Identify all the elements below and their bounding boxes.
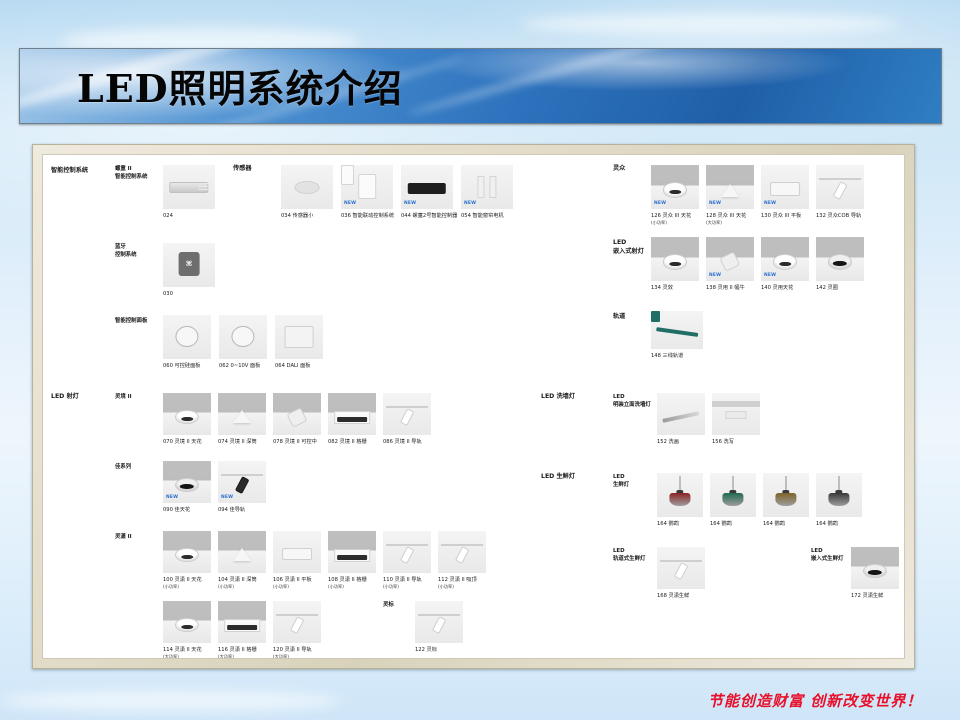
product-code: 164 鹦鹉: [657, 521, 679, 527]
track-rail: [660, 560, 702, 562]
track-spot: [432, 616, 446, 634]
product-caption: 064 DALI 面板: [275, 363, 329, 370]
product-thumbnail: [438, 531, 486, 573]
product-caption: 140 灵用天花: [761, 285, 815, 292]
track-spot: [674, 562, 688, 580]
group-title-jia-series: 佳系列: [115, 463, 131, 471]
group-title-lingbiao: 灵标: [383, 601, 394, 609]
product-image: [712, 393, 760, 435]
section-title-sensors: 传感器: [233, 165, 252, 174]
new-badge: NEW: [166, 495, 178, 500]
track-rail: [418, 614, 460, 616]
title-banner: LED照明系统介绍: [19, 48, 942, 124]
downlight-core: [833, 261, 847, 267]
product-thumbnail: [651, 311, 703, 349]
product-thumbnail: ⌘: [163, 243, 215, 287]
group-title-surface-wall-washer: LED 明装立面洗墙灯: [613, 393, 651, 409]
product-thumbnail: [383, 531, 431, 573]
product-thumbnail: [163, 393, 211, 435]
flat-panel: [282, 548, 312, 561]
product-thumbnail: [218, 601, 266, 643]
flat-panel: [770, 182, 800, 195]
product-thumbnail: [218, 393, 266, 435]
group-title-lingjing-ii: 灵境 II: [115, 393, 132, 401]
track-spot: [400, 408, 414, 426]
product-thumbnail: [328, 531, 376, 573]
product-image: [273, 393, 321, 435]
section-title-led-spotlight: LED 射灯: [51, 393, 79, 402]
wall-washer-body: [662, 411, 699, 422]
product-thumbnail: NEW: [163, 461, 211, 503]
product-image: NEW: [341, 165, 393, 209]
product-caption: 156 洗写: [712, 439, 766, 446]
track-spot: [833, 181, 848, 200]
grille-face: [337, 417, 367, 423]
product-thumbnail: [275, 315, 323, 359]
product-thumbnail: NEW: [341, 165, 393, 209]
cone-reflector: [233, 548, 251, 561]
product-thumbnail: [712, 393, 760, 435]
product-code: 156 洗写: [712, 439, 734, 445]
product-image: NEW: [163, 461, 211, 503]
product-thumbnail: [415, 601, 463, 643]
product-code: 034 传感器小: [281, 213, 313, 219]
product-code: 036 智能联动控制系统: [341, 213, 394, 219]
product-thumbnail: NEW: [461, 165, 513, 209]
product-thumbnail: [328, 393, 376, 435]
product-image: [163, 531, 211, 573]
bluetooth-module: ⌘: [179, 252, 200, 276]
pendant-shade: [828, 493, 849, 506]
product-caption: 164 鹦鹉: [710, 521, 762, 528]
downlight-core: [779, 262, 791, 267]
product-image: [281, 165, 333, 209]
product-image: [328, 531, 376, 573]
product-caption: 110 灵潇 II 导轨(小功率): [383, 577, 437, 591]
product-thumbnail: [273, 531, 321, 573]
product-code: 152 洗画: [657, 439, 679, 445]
product-image: [163, 393, 211, 435]
product-image: [219, 315, 267, 359]
group-title-fresh-recessed: LED 嵌入式生鲜灯: [811, 547, 843, 563]
product-code: 054 智能窗帘电机: [461, 213, 504, 219]
track-spot: [235, 476, 249, 494]
product-image: [218, 531, 266, 573]
product-code: 132 灵众COB 导轨: [816, 213, 861, 219]
product-power-note: (大功率): [706, 220, 722, 225]
product-caption: 106 灵潇 II 平板(小功率): [273, 577, 327, 591]
product-caption: 036 智能联动控制系统: [341, 213, 399, 220]
product-caption: 044 螺童2号智能控制器: [401, 213, 459, 220]
product-caption: 094 佳导轨: [218, 507, 272, 514]
product-caption: 130 灵众 III 平板: [761, 213, 815, 220]
new-badge: NEW: [404, 201, 416, 206]
product-caption: 116 灵潇 II 格栅(大功率): [218, 647, 272, 659]
product-caption: 070 灵境 II 天花: [163, 439, 217, 446]
rail-connector: [651, 311, 660, 322]
group-title-lingxiao-ii-small: 灵潇 II: [115, 533, 132, 541]
product-image: [657, 473, 703, 517]
track-rail: [276, 614, 318, 616]
product-power-note: (小功率): [438, 584, 454, 589]
product-image: [651, 311, 703, 349]
track-rail: [386, 544, 428, 546]
product-image: NEW: [761, 165, 809, 209]
panel-face: [285, 326, 314, 347]
footer-slogan: 节能创造财富 创新改变世界！: [708, 690, 922, 711]
product-thumbnail: [816, 237, 864, 281]
product-code: 116 灵潇 II 格栅: [218, 647, 257, 653]
poster-frame: 智能控制系统螺童 II 智能控制系统024蓝牙 控制系统⌘030智能控制面板06…: [32, 144, 915, 669]
track-spot: [400, 546, 414, 564]
product-code: 104 灵潇 II 深筒: [218, 577, 257, 583]
new-badge: NEW: [344, 201, 356, 206]
section-title-smart-control-system: 智能控制系统: [51, 167, 88, 176]
page-title: LED照明系统介绍: [77, 58, 403, 113]
product-caption: 132 灵众COB 导轨: [816, 213, 870, 220]
product-image: NEW: [706, 237, 754, 281]
product-code: 090 佳天花: [163, 507, 190, 513]
switch-plate-secondary: [341, 165, 354, 185]
product-code: 172 灵潇生鲜: [851, 593, 883, 599]
product-power-note: (小功率): [651, 220, 667, 225]
product-image: [218, 393, 266, 435]
product-image: NEW: [218, 461, 266, 503]
product-code: 100 灵潇 II 天花: [163, 577, 202, 583]
product-code: 168 灵潇生鲜: [657, 593, 689, 599]
product-image: NEW: [651, 165, 699, 209]
product-caption: 112 灵潇 II 吸顶(小功率): [438, 577, 492, 591]
pendant-shade: [775, 493, 796, 506]
product-code: 062 0~10V 面板: [219, 363, 260, 369]
product-code: 024: [163, 213, 173, 219]
product-caption: 104 灵潇 II 深筒(小功率): [218, 577, 272, 591]
product-thumbnail: NEW: [401, 165, 453, 209]
product-power-note: (小功率): [273, 584, 289, 589]
product-caption: 114 灵潇 II 天花(大功率): [163, 647, 217, 659]
product-thumbnail: NEW: [706, 237, 754, 281]
product-caption: 086 灵境 II 导轨: [383, 439, 437, 446]
product-caption: 090 佳天花: [163, 507, 217, 514]
group-title-fresh-pendant: LED 生鲜灯: [613, 473, 629, 489]
product-caption: 100 灵潇 II 天花(小功率): [163, 577, 217, 591]
cone-reflector: [721, 184, 739, 197]
product-thumbnail: [273, 393, 321, 435]
track-spot: [290, 616, 304, 634]
pendant-cord: [680, 476, 681, 491]
new-badge: NEW: [764, 201, 776, 206]
product-image: NEW: [706, 165, 754, 209]
product-caption: 120 灵潇 II 导轨(大功率): [273, 647, 327, 659]
product-thumbnail: [657, 393, 705, 435]
product-power-note: (小功率): [163, 584, 179, 589]
product-thumbnail: [273, 601, 321, 643]
product-code: 114 灵潇 II 天花: [163, 647, 202, 653]
product-image: [710, 473, 756, 517]
product-caption: 152 洗画: [657, 439, 711, 446]
three-wire-rail: [656, 327, 698, 337]
product-caption: 054 智能窗帘电机: [461, 213, 519, 220]
product-thumbnail: [710, 473, 756, 517]
gateway-indicator: [198, 183, 207, 193]
new-badge: NEW: [221, 495, 233, 500]
product-thumbnail: NEW: [218, 461, 266, 503]
bluetooth-icon: ⌘: [186, 260, 193, 268]
product-code: 140 灵用天花: [761, 285, 793, 291]
new-badge: NEW: [654, 201, 666, 206]
product-thumbnail: [816, 473, 862, 517]
product-code: 122 灵标: [415, 647, 437, 653]
product-code: 164 鹦鹉: [763, 521, 785, 527]
product-thumbnail: NEW: [706, 165, 754, 209]
product-code: 060 可控硅面板: [163, 363, 201, 369]
product-caption: 122 灵标: [415, 647, 469, 654]
product-code: 064 DALI 面板: [275, 363, 310, 369]
product-image: [218, 601, 266, 643]
pendant-cord: [786, 476, 787, 491]
product-code: 120 灵潇 II 导轨: [273, 647, 312, 653]
new-badge: NEW: [709, 273, 721, 278]
product-code: 108 灵潇 II 格栅: [328, 577, 367, 583]
product-caption: 142 灵圈: [816, 285, 870, 292]
product-code: 094 佳导轨: [218, 507, 245, 513]
adjustable-head: [719, 252, 740, 273]
product-thumbnail: NEW: [761, 237, 809, 281]
downlight-core: [181, 625, 193, 630]
product-thumbnail: [163, 165, 215, 209]
product-caption: 164 鹦鹉: [763, 521, 815, 528]
pendant-cord: [839, 476, 840, 491]
product-image: [657, 393, 705, 435]
cloud-wisp: [0, 690, 340, 712]
product-caption: 108 灵潇 II 格栅(小功率): [328, 577, 382, 591]
product-thumbnail: [657, 547, 705, 589]
group-title-fresh-track: LED 轨道式生鲜灯: [613, 547, 645, 563]
product-image: [415, 601, 463, 643]
product-caption: 074 灵境 II 深筒: [218, 439, 272, 446]
product-power-note: (大功率): [273, 654, 289, 659]
product-thumbnail: NEW: [651, 165, 699, 209]
product-image: [328, 393, 376, 435]
product-image: NEW: [401, 165, 453, 209]
section-title-led-wall-washer: LED 洗墙灯: [541, 393, 575, 402]
product-power-note: (小功率): [328, 584, 344, 589]
track-spot: [455, 546, 469, 564]
product-caption: 134 灵效: [651, 285, 705, 292]
downlight-core: [669, 262, 681, 267]
product-code: 030: [163, 291, 173, 297]
product-thumbnail: [816, 165, 864, 209]
section-title-lingzhong: 灵众: [613, 165, 625, 174]
product-code: 070 灵境 II 天花: [163, 439, 202, 445]
product-thumbnail: [281, 165, 333, 209]
product-image: [163, 315, 211, 359]
product-image: [651, 237, 699, 281]
product-thumbnail: NEW: [761, 165, 809, 209]
pendant-shade: [722, 493, 743, 506]
curtain-motor-b: [490, 176, 497, 197]
new-badge: NEW: [764, 273, 776, 278]
sensor-body: [295, 181, 320, 194]
product-image: NEW: [461, 165, 513, 209]
adjustable-head: [286, 407, 307, 427]
product-power-note: (小功率): [383, 584, 399, 589]
product-caption: 138 灵用 II 幅牛: [706, 285, 760, 292]
product-thumbnail: [651, 237, 699, 281]
wall-washer-body: [725, 411, 746, 419]
product-code: 142 灵圈: [816, 285, 838, 291]
product-image: [163, 165, 215, 209]
slide-canvas: LED照明系统介绍 智能控制系统螺童 II 智能控制系统024蓝牙 控制系统⌘0…: [0, 0, 960, 720]
product-code: 126 灵众 III 天花: [651, 213, 691, 219]
product-caption: 168 灵潇生鲜: [657, 593, 711, 600]
switch-plate: [358, 174, 376, 199]
product-image: [383, 393, 431, 435]
product-code: 078 灵境 II 可控中: [273, 439, 317, 445]
curtain-motor-a: [477, 176, 484, 197]
group-title-bluetooth-control-system: 蓝牙 控制系统: [115, 243, 137, 259]
cloud-wisp: [520, 14, 900, 34]
product-caption: 062 0~10V 面板: [219, 363, 273, 370]
dimmer-knob: [231, 326, 254, 347]
product-thumbnail: [163, 531, 211, 573]
product-image: [763, 473, 809, 517]
product-thumbnail: [657, 473, 703, 517]
product-thumbnail: [219, 315, 267, 359]
product-image: [816, 473, 862, 517]
product-image: NEW: [761, 237, 809, 281]
product-thumbnail: [163, 315, 211, 359]
cone-reflector: [233, 410, 251, 423]
product-code: 128 灵众 III 天花: [706, 213, 746, 219]
grille-face: [227, 625, 257, 631]
product-code: 164 鹦鹉: [816, 521, 838, 527]
pendant-cord: [733, 476, 734, 491]
product-thumbnail: [763, 473, 809, 517]
product-image: [273, 601, 321, 643]
product-caption: 164 鹦鹉: [816, 521, 868, 528]
downlight-core: [181, 417, 193, 422]
product-image: ⌘: [163, 243, 215, 287]
section-title-led-fresh-light: LED 生鲜灯: [541, 473, 575, 482]
product-caption: 034 传感器小: [281, 213, 339, 220]
product-thumbnail: [383, 393, 431, 435]
product-thumbnail: [218, 531, 266, 573]
controller-body: [408, 183, 446, 194]
product-code: 148 三线轨道: [651, 353, 683, 359]
product-caption: 078 灵境 II 可控中: [273, 439, 327, 446]
group-title-smart-control-gateway: 螺童 II 智能控制系统: [115, 165, 147, 181]
product-code: 086 灵境 II 导轨: [383, 439, 422, 445]
product-code: 106 灵潇 II 平板: [273, 577, 312, 583]
product-caption: 030: [163, 291, 221, 298]
product-code: 134 灵效: [651, 285, 673, 291]
new-badge: NEW: [709, 201, 721, 206]
track-rail: [819, 178, 861, 180]
product-caption: 148 三线轨道: [651, 353, 709, 360]
product-image: [383, 531, 431, 573]
track-rail: [386, 406, 428, 408]
pendant-shade: [669, 493, 690, 506]
product-image: [657, 547, 705, 589]
product-caption: 164 鹦鹉: [657, 521, 709, 528]
downlight-core: [181, 555, 193, 560]
product-image: [275, 315, 323, 359]
product-image: [816, 165, 864, 209]
downlight-core: [669, 190, 681, 195]
product-code: 082 灵境 II 格栅: [328, 439, 367, 445]
product-caption: 024: [163, 213, 221, 220]
product-thumbnail: [851, 547, 899, 589]
product-power-note: (小功率): [218, 584, 234, 589]
product-code: 074 灵境 II 深筒: [218, 439, 257, 445]
dimmer-knob: [175, 326, 198, 347]
product-image: [816, 237, 864, 281]
product-image: [163, 601, 211, 643]
product-code: 164 鹦鹉: [710, 521, 732, 527]
poster-sheet: 智能控制系统螺童 II 智能控制系统024蓝牙 控制系统⌘030智能控制面板06…: [42, 154, 905, 659]
product-caption: 082 灵境 II 格栅: [328, 439, 382, 446]
section-title-track: 轨道: [613, 313, 625, 322]
product-thumbnail: [163, 601, 211, 643]
group-title-smart-control-panel: 智能控制面板: [115, 317, 147, 325]
product-power-note: (大功率): [218, 654, 234, 659]
product-caption: 060 可控硅面板: [163, 363, 217, 370]
banner-streak: [407, 48, 813, 119]
product-code: 138 灵用 II 幅牛: [706, 285, 745, 291]
product-code: 112 灵潇 II 吸顶: [438, 577, 477, 583]
product-caption: 126 灵众 III 天花(小功率): [651, 213, 705, 227]
track-rail: [221, 474, 263, 476]
product-caption: 172 灵潇生鲜: [851, 593, 905, 600]
product-power-note: (大功率): [163, 654, 179, 659]
product-image: [851, 547, 899, 589]
product-image: [438, 531, 486, 573]
product-code: 044 螺童2号智能控制器: [401, 213, 457, 219]
product-code: 130 灵众 III 平板: [761, 213, 801, 219]
grille-face: [337, 555, 367, 561]
track-rail: [441, 544, 483, 546]
product-image: [273, 531, 321, 573]
new-badge: NEW: [464, 201, 476, 206]
section-title-led-recessed-spotlight: LED 嵌入式射灯: [613, 239, 644, 257]
product-code: 110 灵潇 II 导轨: [383, 577, 422, 583]
ceiling-slot: [712, 401, 760, 408]
product-caption: 128 灵众 III 天花(大功率): [706, 213, 760, 227]
